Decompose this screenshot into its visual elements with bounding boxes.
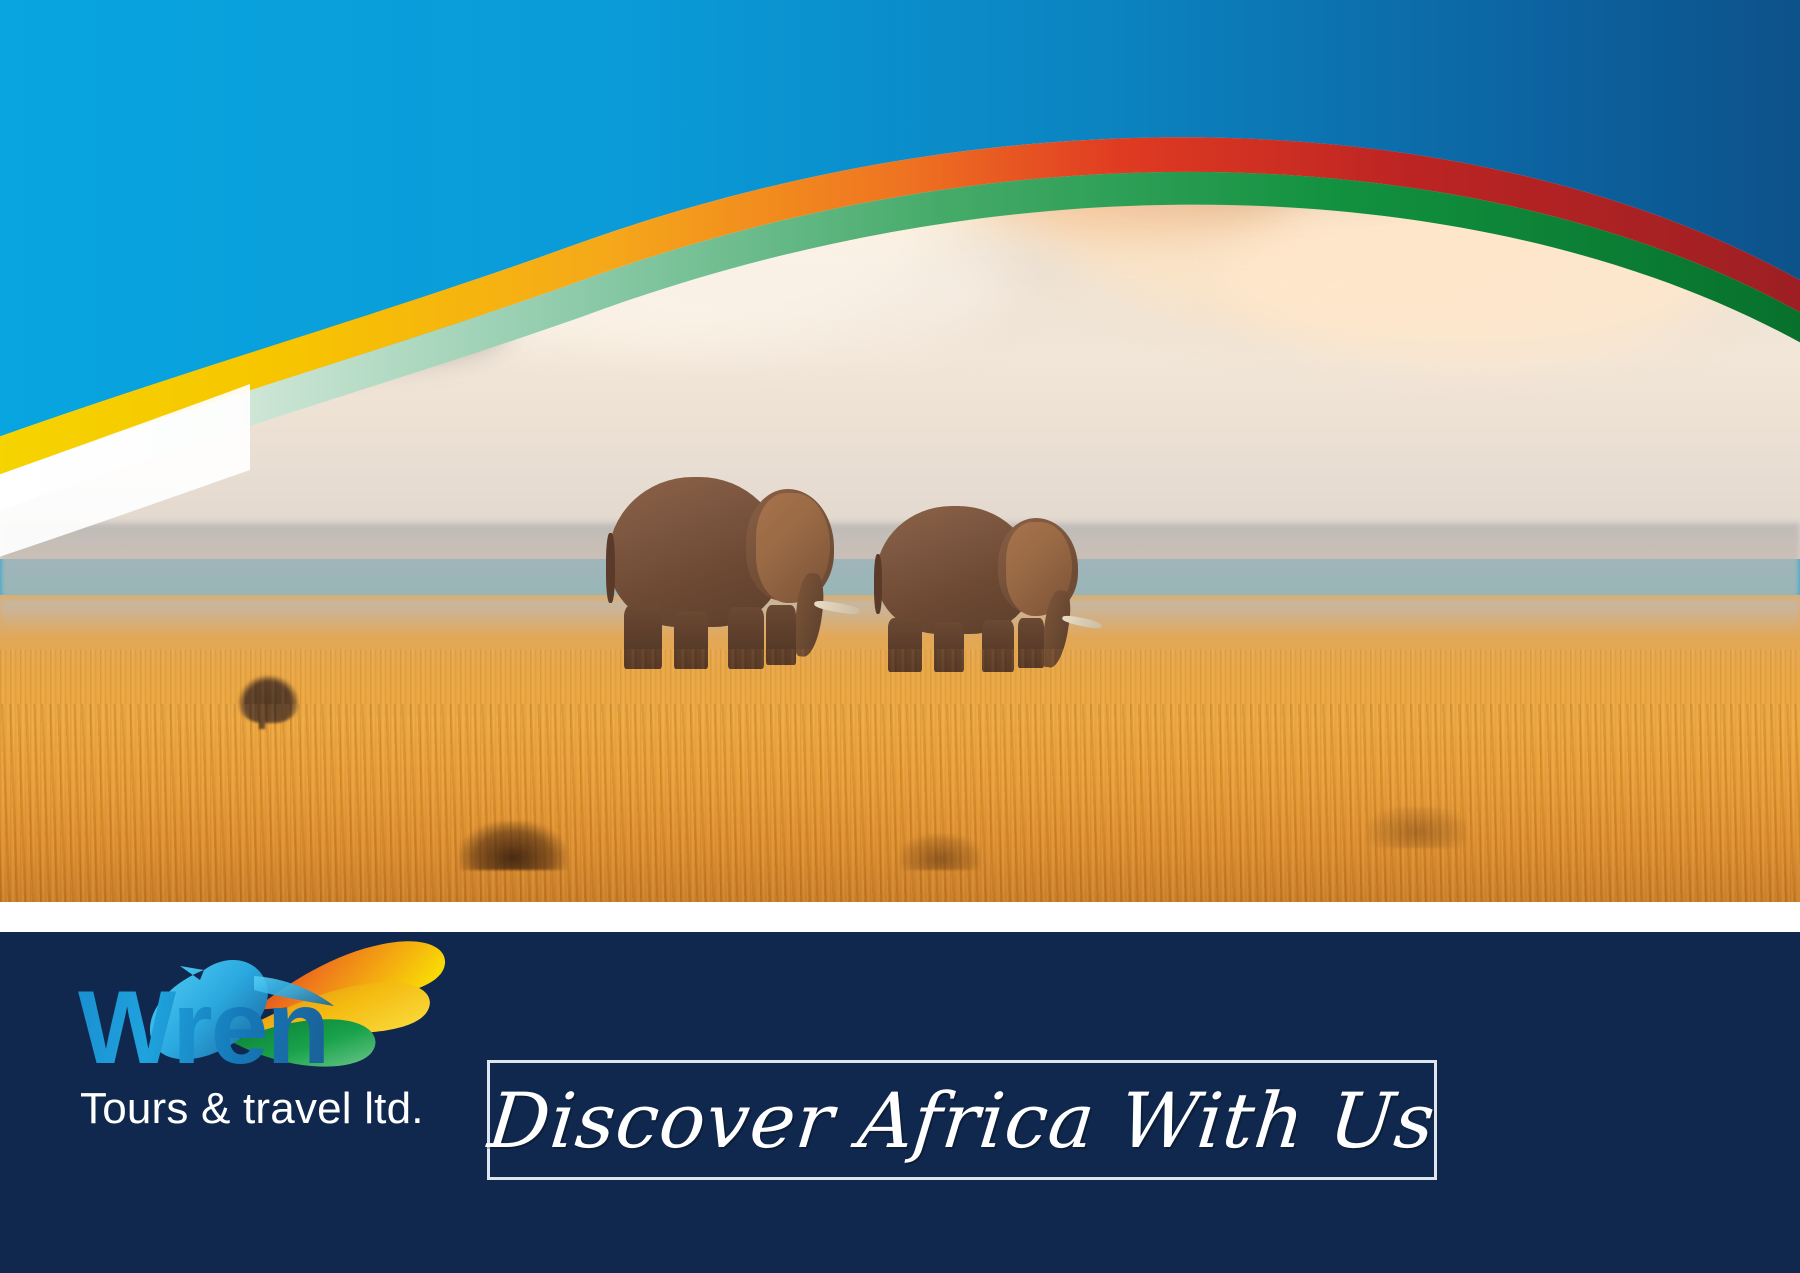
rainbow-arc-overlay xyxy=(0,0,1800,902)
logo-subtitle: Tours & travel ltd. xyxy=(80,1084,424,1134)
tagline-box: Discover Africa With Us xyxy=(487,1060,1437,1180)
tagline-text: Discover Africa With Us xyxy=(484,1076,1439,1165)
logo-block[interactable]: Wren Tours & travel ltd. xyxy=(58,924,478,1174)
logo-wordmark: Wren xyxy=(78,976,328,1080)
hero-photo xyxy=(0,0,1800,902)
travel-banner: Wren Tours & travel ltd. Discover Africa… xyxy=(0,0,1800,1273)
